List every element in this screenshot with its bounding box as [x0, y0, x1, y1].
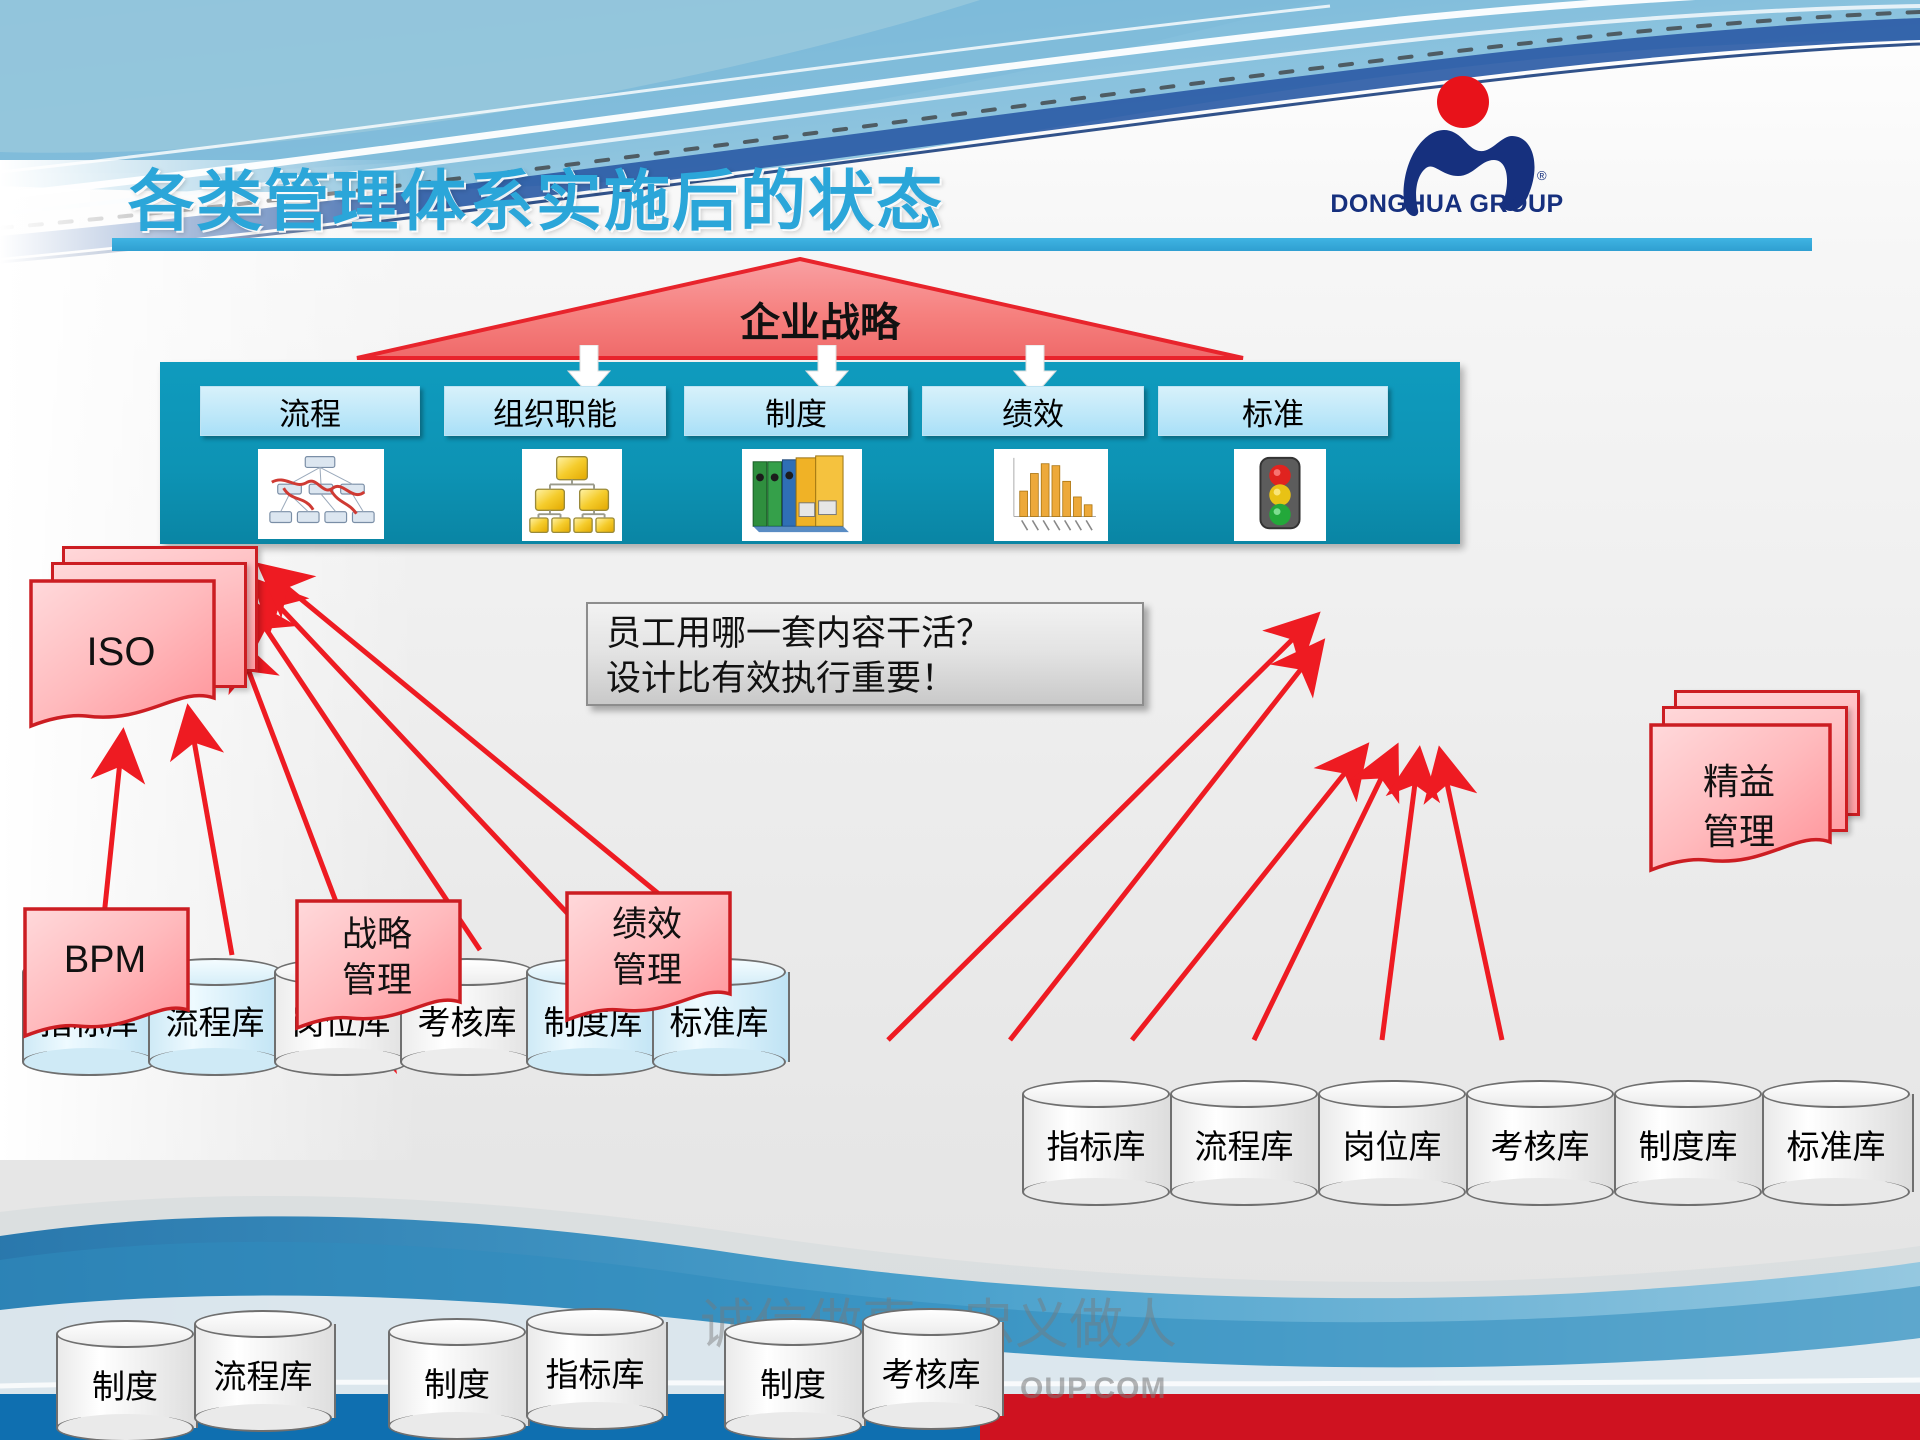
brand-name: DONGHUA GROUP: [1322, 190, 1572, 219]
db-cylinder-b0[interactable]: 制度: [56, 1320, 194, 1440]
pillar-label: 标准: [1242, 389, 1304, 434]
db-label: 考核库: [862, 1348, 1000, 1396]
iso-card-label: ISO: [28, 630, 214, 674]
db-label: 指标库: [526, 1348, 664, 1396]
lean-card-label-line1: 精益: [1648, 762, 1830, 802]
performance-mgmt-label-line1: 绩效: [564, 906, 730, 945]
binders-icon: [742, 449, 862, 541]
page-title: 各类管理体系实施后的状态: [128, 148, 944, 244]
org-chart-icon: [522, 449, 622, 541]
db-label: 制度: [388, 1358, 526, 1406]
pillar-tab-3[interactable]: 绩效: [922, 386, 1144, 436]
flowchart-icon: [258, 449, 384, 539]
db-cylinder-b4[interactable]: 制度: [724, 1318, 862, 1440]
pillar-tab-4[interactable]: 标准: [1158, 386, 1388, 436]
note-callout-box: 员工用哪一套内容干活？ 设计比有效执行重要！: [586, 602, 1144, 706]
pillar-label: 绩效: [1002, 389, 1064, 434]
pillar-tab-2[interactable]: 制度: [684, 386, 908, 436]
title-underline-rule: [112, 238, 1812, 251]
db-cylinder-b1[interactable]: 流程库: [194, 1310, 332, 1432]
pyramid-label: 企业战略: [720, 290, 920, 348]
db-label: 流程库: [194, 1350, 332, 1398]
db-cylinder-b2[interactable]: 制度: [388, 1318, 526, 1440]
pillar-label: 组织职能: [493, 389, 617, 434]
strategy-mgmt-label-line1: 战略: [294, 916, 460, 955]
note-line-2: 设计比有效执行重要！: [606, 657, 1142, 702]
db-label: 制度: [56, 1360, 194, 1408]
traffic-light-icon: [1234, 449, 1326, 541]
registered-mark: ®: [1537, 168, 1547, 183]
strategy-mgmt-label-line2: 管理: [294, 962, 460, 1001]
db-cylinder-b5[interactable]: 考核库: [862, 1308, 1000, 1430]
bar-chart-icon: [994, 449, 1108, 541]
pillar-tab-1[interactable]: 组织职能: [444, 386, 666, 436]
lean-card-label-line2: 管理: [1648, 812, 1830, 852]
site-watermark: OUP.COM: [1020, 1372, 1166, 1406]
performance-mgmt-label-line2: 管理: [564, 952, 730, 991]
note-line-1: 员工用哪一套内容干活？: [606, 612, 1142, 657]
pillar-label: 制度: [765, 389, 827, 434]
bpm-card-label: BPM: [22, 940, 188, 982]
db-label: 制度: [724, 1358, 862, 1406]
pillar-tab-0[interactable]: 流程: [200, 386, 420, 436]
db-cylinder-b3[interactable]: 指标库: [526, 1308, 664, 1430]
pillar-label: 流程: [279, 389, 341, 434]
slide-canvas: 各类管理体系实施后的状态 ® DONGHUA GROUP 企业战略 流程 组织职…: [0, 0, 1920, 1440]
